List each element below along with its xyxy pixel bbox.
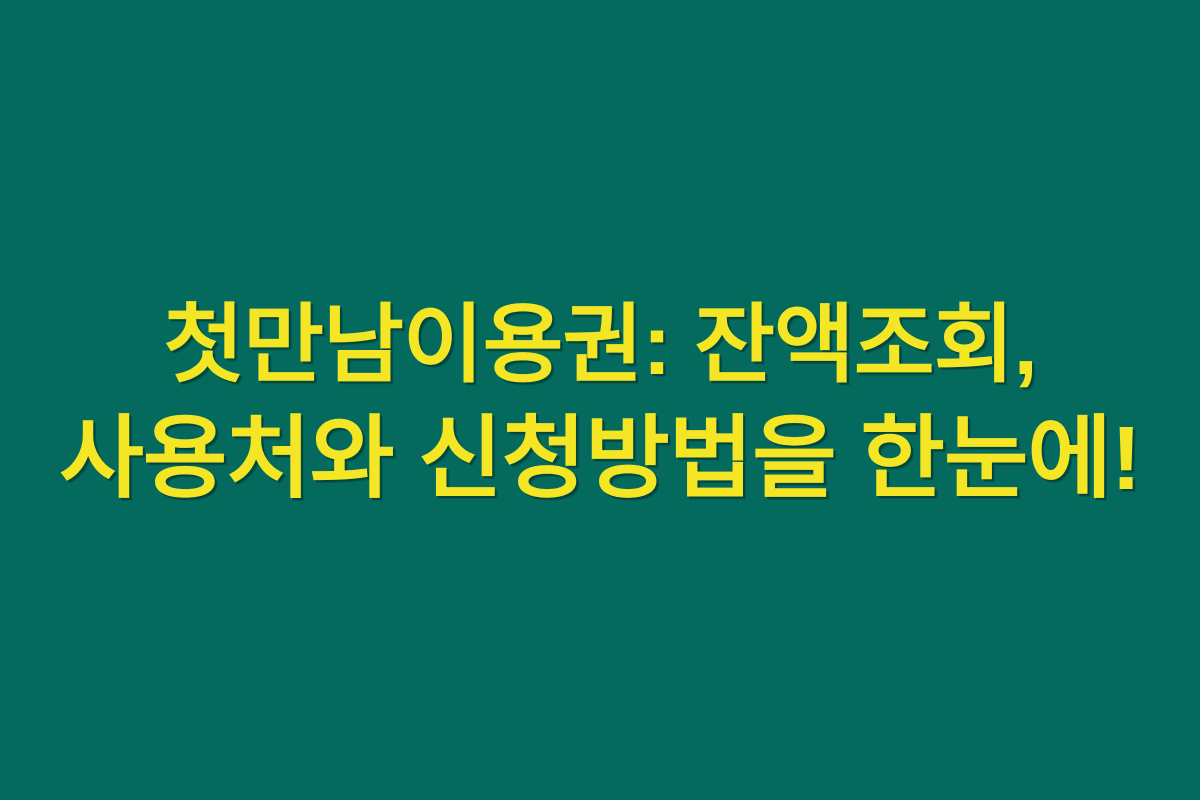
banner-canvas: 첫만남이용권: 잔액조회, 사용처와 신청방법을 한눈에! [0,0,1200,800]
headline-line-1: 첫만남이용권: 잔액조회, [163,290,1037,402]
headline-line-2: 사용처와 신청방법을 한눈에! [59,401,1140,518]
headline-block: 첫만남이용권: 잔액조회, 사용처와 신청방법을 한눈에! [0,290,1200,519]
